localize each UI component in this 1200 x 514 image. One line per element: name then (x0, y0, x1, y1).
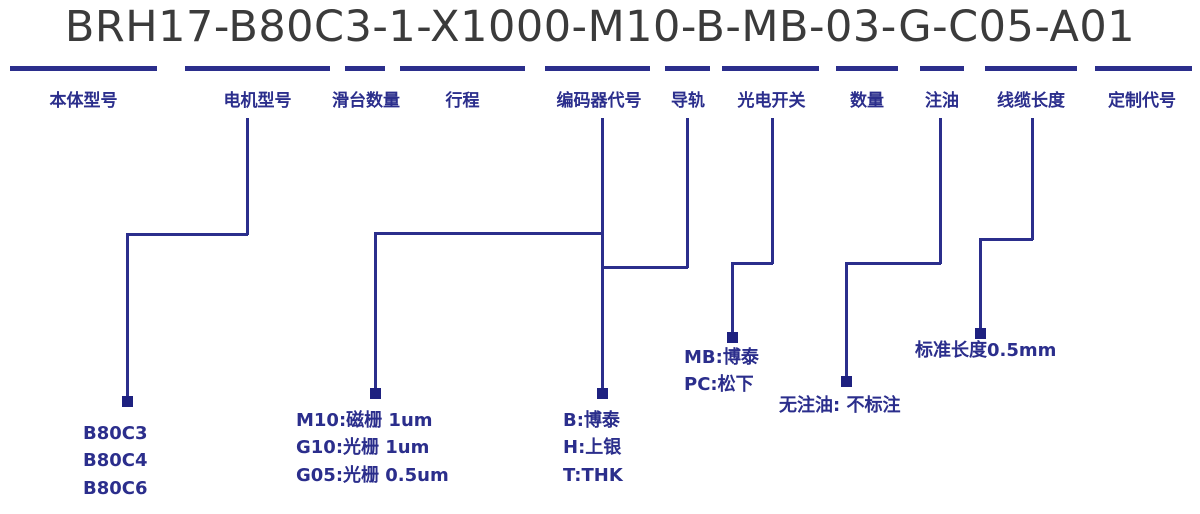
segment-label-photo-switch: 光电开关 (720, 86, 823, 111)
segment-label-motor-model: 电机型号 (185, 86, 330, 111)
leader-cable-length-h (979, 238, 1033, 241)
segment-bar-quantity (836, 66, 898, 71)
leader-cable-length-v2 (979, 238, 982, 330)
option-item: MB:博泰 (684, 344, 759, 371)
option-item: B80C6 (83, 475, 148, 502)
segment-label-stroke: 行程 (400, 86, 525, 111)
leader-photo-switch-v2 (731, 262, 734, 334)
segment-bar-stroke (400, 66, 525, 71)
option-item: B80C4 (83, 447, 148, 474)
option-item: M10:磁栅 1um (296, 407, 449, 434)
leader-oiling-v1 (939, 118, 942, 264)
option-item: 无注油: 不标注 (779, 392, 900, 419)
leader-encoder-v2 (374, 232, 377, 390)
leader-photo-switch-endpoint (727, 332, 738, 343)
segment-bar-oiling (920, 66, 964, 71)
option-item: G05:光栅 0.5um (296, 462, 449, 489)
segment-label-cable-length: 线缆长度 (982, 86, 1080, 111)
segment-label-body-model: 本体型号 (10, 86, 157, 111)
option-item: H:上银 (563, 434, 623, 461)
segment-bar-body-model (10, 66, 157, 71)
leader-guide-rail-v1 (686, 118, 689, 268)
leader-encoder-v1 (601, 118, 604, 268)
segment-bar-guide-rail (665, 66, 710, 71)
option-item: B80C3 (83, 420, 148, 447)
leader-body-model-v2 (126, 233, 129, 398)
model-code-breakdown-diagram: BRH17-B80C3-1-X1000-M10-B-MB-03-G-C05-A0… (0, 0, 1200, 514)
options-cable-length: 标准长度0.5mm (915, 337, 1056, 364)
option-item: B:博泰 (563, 407, 623, 434)
segment-bar-motor-model (185, 66, 330, 71)
segment-label-quantity: 数量 (834, 86, 900, 111)
options-guide-rail: B:博泰 H:上银 T:THK (563, 407, 623, 489)
leader-oiling-v2 (845, 262, 848, 378)
option-item: PC:松下 (684, 371, 759, 398)
leader-body-model-endpoint (122, 396, 133, 407)
option-item: T:THK (563, 462, 623, 489)
option-item: 标准长度0.5mm (915, 337, 1056, 364)
leader-guide-rail-v2 (601, 266, 604, 390)
options-oiling: 无注油: 不标注 (779, 392, 900, 419)
leader-guide-rail-endpoint (597, 388, 608, 399)
segment-bar-encoder-code (545, 66, 650, 71)
options-photo-switch: MB:博泰 PC:松下 (684, 344, 759, 399)
segment-bar-photo-switch (722, 66, 819, 71)
segment-bar-cable-length (985, 66, 1077, 71)
leader-photo-switch-v1 (771, 118, 774, 264)
option-item: G10:光栅 1um (296, 434, 449, 461)
leader-encoder-h (374, 232, 603, 235)
leader-oiling-h (845, 262, 941, 265)
segment-label-custom-code: 定制代号 (1092, 86, 1192, 111)
segment-label-oiling: 注油 (916, 86, 968, 111)
segment-label-guide-rail: 导轨 (662, 86, 714, 111)
segment-bar-slide-count (345, 66, 385, 71)
leader-encoder-endpoint (370, 388, 381, 399)
options-encoder-code: M10:磁栅 1um G10:光栅 1um G05:光栅 0.5um (296, 407, 449, 489)
model-code-title: BRH17-B80C3-1-X1000-M10-B-MB-03-G-C05-A0… (0, 2, 1200, 52)
segment-label-encoder-code: 编码器代号 (538, 86, 660, 111)
leader-body-model-v1 (246, 118, 249, 235)
leader-body-model-h (126, 233, 248, 236)
leader-guide-rail-h (601, 266, 688, 269)
leader-photo-switch-h (731, 262, 773, 265)
leader-oiling-endpoint (841, 376, 852, 387)
options-body-model: B80C3 B80C4 B80C6 (83, 420, 148, 502)
segment-bar-custom-code (1095, 66, 1192, 71)
leader-cable-length-v1 (1031, 118, 1034, 240)
